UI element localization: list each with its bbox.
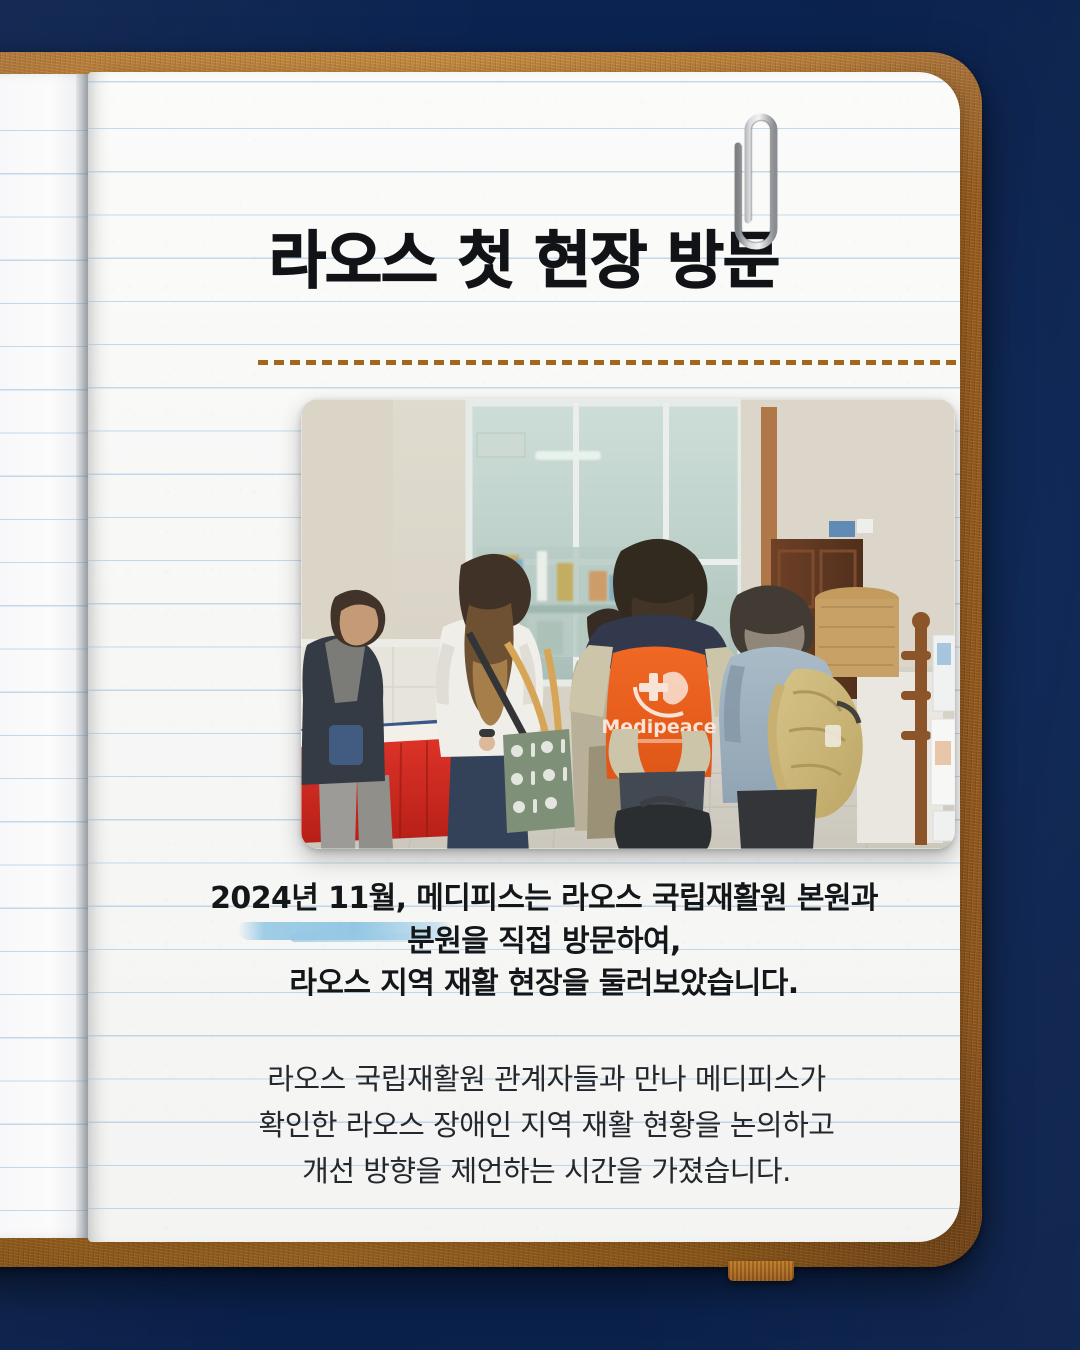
notebook-main-page: 라오스 첫 현장 방문 bbox=[88, 72, 960, 1242]
body-paragraph: 라오스 국립재활원 관계자들과 만나 메디피스가 확인한 라오스 장애인 지역 … bbox=[208, 1057, 885, 1194]
notebook: 라오스 첫 현장 방문 bbox=[0, 52, 982, 1267]
page-content: 라오스 첫 현장 방문 bbox=[88, 72, 960, 1242]
page-title: 라오스 첫 현장 방문 bbox=[88, 230, 960, 292]
body-line-1: 라오스 국립재활원 관계자들과 만나 메디피스가 bbox=[208, 1057, 885, 1103]
notebook-band-tab bbox=[728, 1261, 794, 1281]
dashed-divider bbox=[258, 360, 960, 365]
body-line-2: 확인한 라오스 장애인 지역 재활 현황을 논의하고 bbox=[208, 1103, 885, 1149]
poster-canvas: 라오스 첫 현장 방문 bbox=[0, 0, 1080, 1350]
lede-line-3: 라오스 지역 재활 현장을 둘러보았습니다. bbox=[198, 963, 890, 1006]
lede-line-1: 2024년 11월, 메디피스는 라오스 국립재활원 본원과 bbox=[198, 878, 890, 921]
field-visit-photo: Medipeace bbox=[301, 399, 955, 849]
lede-line-2: 분원을 직접 방문하여, bbox=[198, 921, 890, 964]
body-line-3: 개선 방향을 제언하는 시간을 가졌습니다. bbox=[208, 1149, 885, 1195]
lede-paragraph: 2024년 11월, 메디피스는 라오스 국립재활원 본원과 분원을 직접 방문… bbox=[198, 878, 890, 1006]
paperclip-icon bbox=[726, 96, 796, 256]
photo-illustration: Medipeace bbox=[301, 399, 955, 849]
